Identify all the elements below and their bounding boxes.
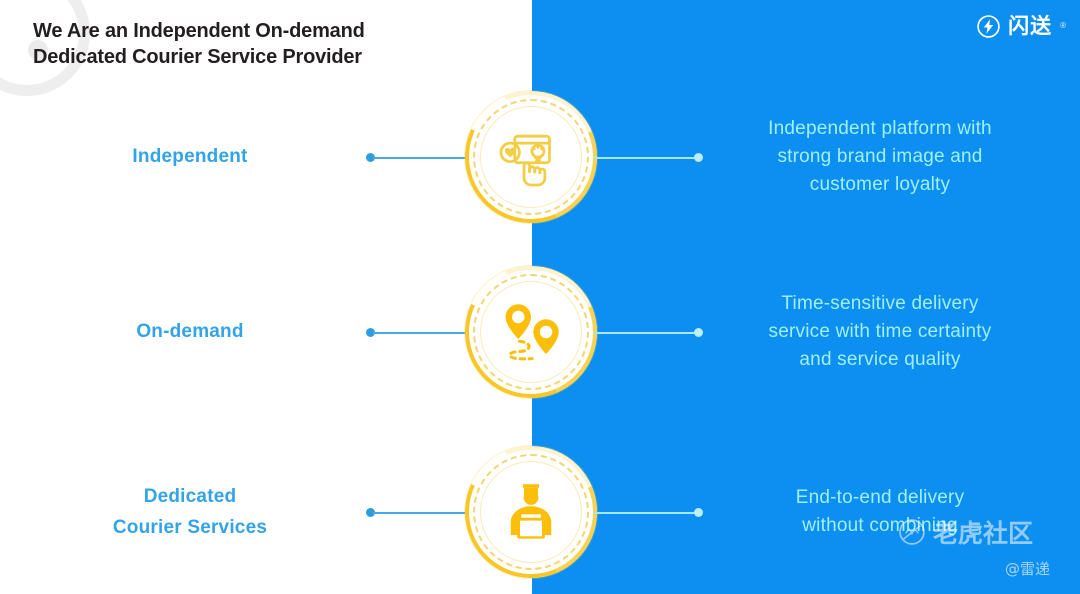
trademark-symbol: ® <box>1060 22 1066 30</box>
feature-desc-line-1: End-to-end delivery <box>796 484 965 512</box>
feature-row-independent: Independent <box>0 79 1080 235</box>
feature-label-line-1: Dedicated <box>144 486 237 507</box>
feature-row-dedicated-courier: Dedicated Courier Services <box>0 434 1080 590</box>
feature-medallion-3 <box>465 446 597 578</box>
feature-desc-line-1: Time-sensitive delivery <box>769 290 992 318</box>
brand-logo-text: 闪送 <box>1008 16 1052 37</box>
feature-desc-line-1: Independent platform with <box>768 115 992 143</box>
tiger-community-logo-icon <box>898 518 926 546</box>
feature-label-line-2: Courier Services <box>113 512 267 543</box>
connector-line-left-3 <box>373 512 476 514</box>
page-title: We Are an Independent On-demand Dedicate… <box>33 18 503 71</box>
page-title-line-1: We Are an Independent On-demand <box>33 18 503 44</box>
connector-line-right-2 <box>594 332 698 334</box>
connector-right-2 <box>594 328 704 337</box>
connector-left-3 <box>366 508 476 517</box>
page-title-line-2: Dedicated Courier Service Provider <box>33 44 503 70</box>
connector-line-left-1 <box>373 157 476 159</box>
feature-desc-line-2: service with time certainty <box>769 318 992 346</box>
feature-description-2: Time-sensitive delivery service with tim… <box>702 254 1058 410</box>
hand-tap-screen-heart-bulb-icon <box>494 120 568 194</box>
connector-line-right-1 <box>594 157 698 159</box>
connector-right-1 <box>594 153 704 162</box>
feature-desc-line-3: customer loyalty <box>768 171 992 199</box>
feature-description-1: Independent platform with strong brand i… <box>702 79 1058 235</box>
map-pins-route-icon <box>494 295 568 369</box>
connector-right-3 <box>594 508 704 517</box>
connector-line-right-3 <box>594 512 698 514</box>
lightning-bolt-circle-icon <box>976 14 1001 39</box>
feature-desc-line-2: strong brand image and <box>768 143 992 171</box>
connector-line-left-2 <box>373 332 476 334</box>
brand-logo: 闪送 ® <box>976 11 1066 41</box>
feature-row-on-demand: On-demand Ti <box>0 254 1080 410</box>
feature-desc-line-3: and service quality <box>769 346 992 374</box>
feature-label-dedicated-courier: Dedicated Courier Services <box>30 434 350 590</box>
feature-label-line-1: Independent <box>132 146 247 167</box>
watermark-main-text: 老虎社区 <box>933 514 1033 550</box>
connector-left-2 <box>366 328 476 337</box>
feature-medallion-2 <box>465 266 597 398</box>
courier-with-parcel-icon <box>494 475 568 549</box>
feature-label-line-1: On-demand <box>136 321 243 342</box>
watermark-tiger-community: 老虎社区 <box>898 514 1033 550</box>
feature-label-independent: Independent <box>30 79 350 235</box>
feature-label-on-demand: On-demand <box>30 254 350 410</box>
connector-left-1 <box>366 153 476 162</box>
slide-canvas: We Are an Independent On-demand Dedicate… <box>0 0 1080 594</box>
watermark-handle: @雷递 <box>1005 558 1050 579</box>
feature-medallion-1 <box>465 91 597 223</box>
